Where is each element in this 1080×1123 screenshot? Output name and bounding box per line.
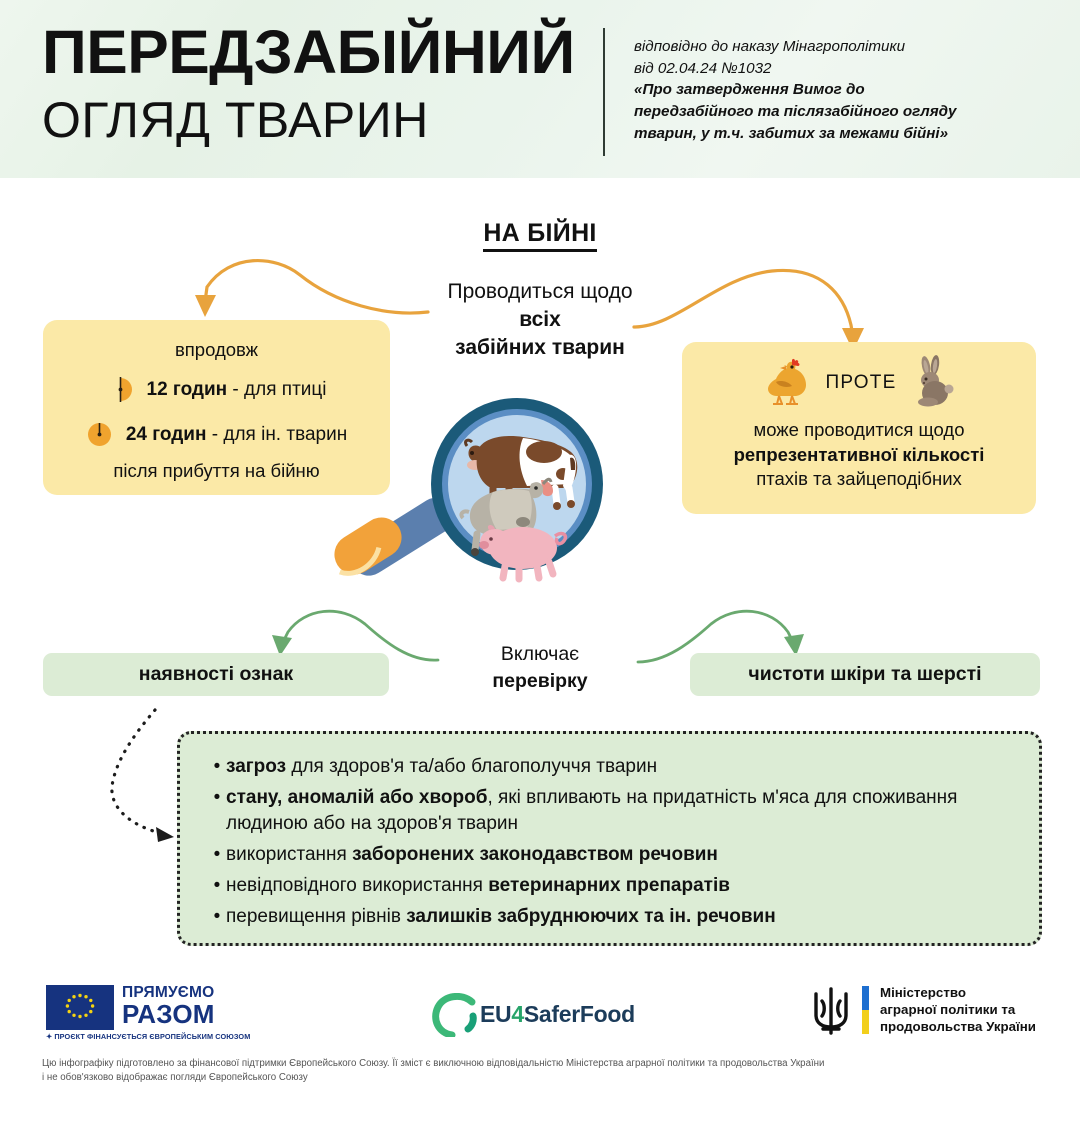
exception-however-label: ПРОТЕ (826, 372, 897, 394)
ukraine-flag-bar (862, 986, 869, 1034)
bullet-icon: • (208, 785, 226, 836)
list-item-0-bold: загроз (226, 756, 286, 777)
intro-line-1: Проводиться щодо (400, 278, 680, 306)
saferfood-post: SaferFood (524, 1001, 635, 1027)
disclaimer-line-1: Цю інфографіку підготовлено за фінансово… (42, 1057, 1042, 1071)
ministry-line-2: аграрної політики та (880, 1001, 1036, 1018)
list-item-1-bold: стану, аномалій або хвороб (226, 787, 487, 808)
bullet-icon: • (208, 754, 226, 779)
check-pill-left: наявності ознак (43, 653, 389, 696)
note-line-1: відповідно до наказу Мінагрополітики (634, 36, 1054, 58)
eu-funding-logo: ПРЯМУЄМО РАЗОМ ✦ ПРОЄКТ ФІНАНСУЄТЬСЯ ЄВР… (46, 985, 346, 1037)
chicken-icon (762, 355, 812, 412)
full-clock-icon (86, 421, 113, 448)
eu-flag-icon (46, 985, 114, 1030)
eu4saferfood-logo: EU4SaferFood (428, 993, 658, 1037)
includes-line-2: перевірку (440, 668, 640, 695)
list-item-2-lead: використання (226, 844, 352, 865)
section-title-text: НА БІЙНІ (483, 219, 596, 252)
infographic-page: ПЕРЕДЗАБІЙНИЙ ОГЛЯД ТВАРИН відповідно до… (0, 0, 1080, 1123)
header-banner: ПЕРЕДЗАБІЙНИЙ ОГЛЯД ТВАРИН відповідно до… (0, 0, 1080, 178)
intro-line-2: всіх (400, 306, 680, 334)
duration-top-label: впродовж (43, 339, 390, 361)
bullet-icon: • (208, 842, 226, 867)
eu-logo-line2: РАЗОМ (122, 1001, 215, 1027)
list-item-text: використання заборонених законодавством … (226, 842, 718, 867)
magnifying-glass-with-animals-icon (327, 396, 627, 591)
page-title-line2: ОГЛЯД ТВАРИН (42, 90, 602, 151)
saferfood-arc-icon (428, 993, 484, 1037)
page-title-line1: ПЕРЕДЗАБІЙНИЙ (42, 22, 613, 83)
title-block: ПЕРЕДЗАБІЙНИЙ ОГЛЯД ТВАРИН (42, 22, 602, 151)
note-quote-line-3: тварин, у т.ч. забитих за межами бійні» (634, 123, 1054, 145)
eu-logo-text: ПРЯМУЄМО РАЗОМ (122, 985, 215, 1027)
header-divider (603, 28, 605, 156)
duration-row-other-text: 24 годин - для ін. тварин (126, 424, 347, 446)
list-item: • стану, аномалій або хвороб, які вплива… (208, 785, 1018, 836)
list-item: • загроз для здоров'я та/або благополучч… (208, 754, 1018, 779)
list-item-3-lead: невідповідного використання (226, 875, 488, 896)
exception-line-1: може проводитися щодо (682, 418, 1036, 443)
checks-list: • загроз для здоров'я та/або благополучч… (208, 754, 1018, 936)
ministry-line-1: Міністерство (880, 984, 1036, 1001)
header-legal-note: відповідно до наказу Мінагрополітики від… (634, 36, 1054, 145)
list-item-0-rest: для здоров'я та/або благополуччя тварин (286, 756, 657, 777)
includes-line-1: Включає (440, 641, 640, 668)
rabbit-icon (910, 355, 956, 412)
list-item: • використання заборонених законодавство… (208, 842, 1018, 867)
ministry-logo: Міністерство аграрної політики та продов… (806, 984, 1066, 1038)
note-quote-line-1: «Про затвердження Вимог до (634, 79, 1054, 101)
includes-label: Включає перевірку (440, 641, 640, 694)
list-item-text: загроз для здоров'я та/або благополуччя … (226, 754, 657, 779)
section-title: НА БІЙНІ (0, 219, 1080, 248)
ministry-name: Міністерство аграрної політики та продов… (880, 984, 1036, 1035)
bullet-icon: • (208, 904, 226, 929)
exception-icons-row: ПРОТЕ (682, 356, 1036, 410)
saferfood-num: 4 (511, 1001, 524, 1027)
intro-line-3: забійних тварин (400, 334, 680, 362)
saferfood-pre: EU (480, 1001, 511, 1027)
duration-row-poultry-text: 12 годин - для птиці (147, 379, 327, 401)
check-pill-right: чистоти шкіри та шерсті (690, 653, 1040, 696)
list-item: • невідповідного використання ветеринарн… (208, 873, 1018, 898)
disclaimer-text: Цю інфографіку підготовлено за фінансово… (42, 1057, 1042, 1085)
note-line-2: від 02.04.24 №1032 (634, 58, 1054, 80)
duration-value-24: 24 годин (126, 424, 207, 445)
list-item-text: невідповідного використання ветеринарних… (226, 873, 730, 898)
duration-rest-poultry: - для птиці (227, 379, 326, 400)
exception-card: ПРОТЕ може проводитися щодо репрезен (682, 342, 1036, 514)
exception-line-3: птахів та зайцеподібних (682, 467, 1036, 492)
exception-line-2: репрезентативної кількості (682, 443, 1036, 468)
bullet-icon: • (208, 873, 226, 898)
list-item-3-bold: ветеринарних препаратів (488, 875, 730, 896)
list-item-2-bold: заборонених законодавством речовин (352, 844, 718, 865)
duration-value-12: 12 годин (147, 379, 228, 400)
disclaimer-line-2: і не обов'язково відображає погляди Євро… (42, 1071, 1042, 1085)
list-item-text: перевищення рівнів залишків забруднюючих… (226, 904, 776, 929)
eu4saferfood-text: EU4SaferFood (480, 1001, 635, 1028)
list-item: • перевищення рівнів залишків забруднююч… (208, 904, 1018, 929)
center-intro-text: Проводиться щодо всіх забійних тварин (400, 278, 680, 362)
checks-detail-box: • загроз для здоров'я та/або благополучч… (177, 731, 1042, 946)
list-item-4-lead: перевищення рівнів (226, 906, 406, 927)
half-clock-icon (107, 376, 134, 403)
check-pill-left-text: наявності ознак (139, 663, 293, 686)
eu-logo-caption: ✦ ПРОЄКТ ФІНАНСУЄТЬСЯ ЄВРОПЕЙСЬКИМ СОЮЗО… (46, 1032, 250, 1041)
check-pill-right-text: чистоти шкіри та шерсті (748, 663, 981, 686)
ministry-line-3: продовольства України (880, 1018, 1036, 1035)
exception-body: може проводитися щодо репрезентативної к… (682, 418, 1036, 492)
list-item-4-bold: залишків забруднюючих та ін. речовин (406, 906, 776, 927)
note-quote-line-2: передзабійного та післязабійного огляду (634, 101, 1054, 123)
ukraine-trident-icon (806, 985, 856, 1037)
list-item-text: стану, аномалій або хвороб, які впливают… (226, 785, 1018, 836)
